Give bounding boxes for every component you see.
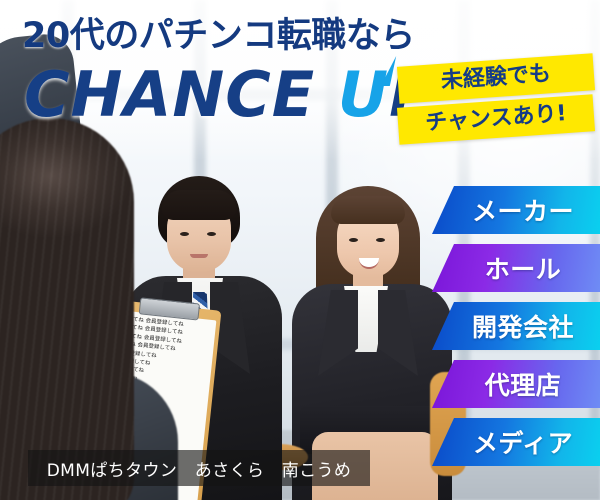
advertisement-banner[interactable]: 録してね 会員登録してね 録してね 会員登録してね 録してね 会員登録してね し…: [0, 0, 600, 500]
tag-dev-company-label: 開発会社: [458, 308, 574, 344]
tag-dev-company[interactable]: 開発会社: [432, 302, 600, 350]
man-face: [167, 196, 231, 272]
tag-agency[interactable]: 代理店: [432, 360, 600, 408]
caption-bar: DMMぱちタウン あさくら 南こうめ: [28, 450, 370, 486]
headline-text: 20代のパチンコ転職なら: [22, 16, 442, 56]
inexperienced-welcome-badge: 未経験でも チャンスあり!: [398, 60, 594, 138]
man-eye-right: [207, 232, 216, 236]
woman-eye-left: [349, 238, 358, 242]
woman-face: [337, 204, 399, 278]
man-mouth: [190, 254, 208, 258]
tag-agency-label: 代理店: [471, 366, 562, 402]
woman-eye-right: [376, 238, 385, 242]
man-eye-left: [180, 232, 189, 236]
tag-hall[interactable]: ホール: [432, 244, 600, 292]
foreground-person-hair: [0, 118, 134, 500]
tag-maker[interactable]: メーカー: [432, 186, 600, 234]
job-category-tag-list: メーカー ホール 開発会社 代理店 メディア: [432, 186, 600, 476]
tag-maker-label: メーカー: [458, 192, 574, 228]
logo-text-chance: CHANCE: [24, 58, 338, 131]
tag-media-label: メディア: [459, 424, 573, 460]
chance-up-logo: CHANCE UP: [24, 62, 436, 128]
tag-hall-label: ホール: [471, 250, 562, 286]
tag-media[interactable]: メディア: [432, 418, 600, 466]
caption-text: DMMぱちタウン あさくら 南こうめ: [47, 456, 352, 481]
logo-letter-u-arrow: U: [338, 62, 389, 128]
woman-smile: [359, 258, 379, 269]
